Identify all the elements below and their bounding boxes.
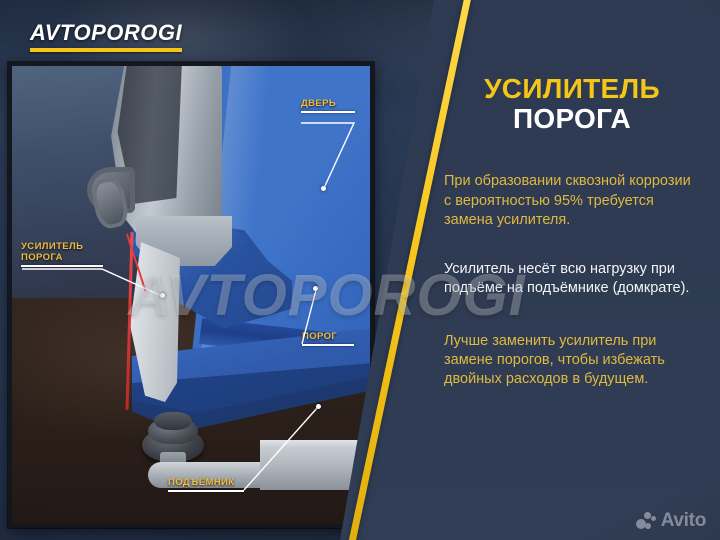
info-panel-content: УСИЛИТЕЛЬ ПОРОГА При образовании сквозно… [444, 0, 700, 540]
info-paragraph-1: При образовании сквозной коррозии с веро… [444, 172, 700, 229]
callout-lift-anchor-dot [316, 404, 321, 409]
callout-door-underline [301, 111, 355, 113]
callout-reinforcer-label-line1: УСИЛИТЕЛЬ [21, 241, 103, 252]
info-paragraph-3: Лучше заменить усилитель при замене поро… [444, 332, 700, 389]
jack-pad-top [154, 412, 192, 430]
avito-watermark: Avito [636, 510, 706, 532]
callout-sill-anchor-dot [313, 286, 318, 291]
callout-lift-underline [168, 490, 244, 492]
callout-reinforcer-anchor-dot [160, 293, 165, 298]
brand-logo-text: AVTOPOROGI [30, 20, 182, 46]
callout-sill-label: ПОРОГ [302, 331, 354, 342]
callout-door-anchor-dot [321, 186, 326, 191]
page-title-line1: УСИЛИТЕЛЬ [444, 74, 700, 104]
page-title: УСИЛИТЕЛЬ ПОРОГА [444, 74, 700, 134]
avito-watermark-text: Avito [661, 510, 706, 532]
brand-logo-underline [30, 48, 182, 52]
brand-logo: AVTOPOROGI [30, 20, 182, 52]
callout-reinforcer-label-line2: ПОРОГА [21, 252, 103, 263]
callout-door: ДВЕРЬ [301, 98, 355, 113]
illustration-frame [8, 62, 374, 528]
avito-logo-icon [636, 512, 657, 531]
page-title-line2: ПОРОГА [444, 104, 700, 134]
callout-door-label: ДВЕРЬ [301, 98, 355, 109]
poster-canvas: AVTOPOROGI [0, 0, 720, 540]
callout-reinforcer-underline [21, 265, 103, 267]
callout-sill: ПОРОГ [302, 331, 354, 346]
callout-reinforcer: УСИЛИТЕЛЬ ПОРОГА [21, 241, 103, 267]
illustration-panel [12, 66, 370, 524]
callout-lift: ПОДЪЁМНИК [168, 477, 244, 492]
callout-sill-underline [302, 344, 354, 346]
info-paragraph-2: Усилитель несёт всю нагрузку при подъёме… [444, 260, 700, 298]
callout-lift-label: ПОДЪЁМНИК [168, 477, 244, 488]
